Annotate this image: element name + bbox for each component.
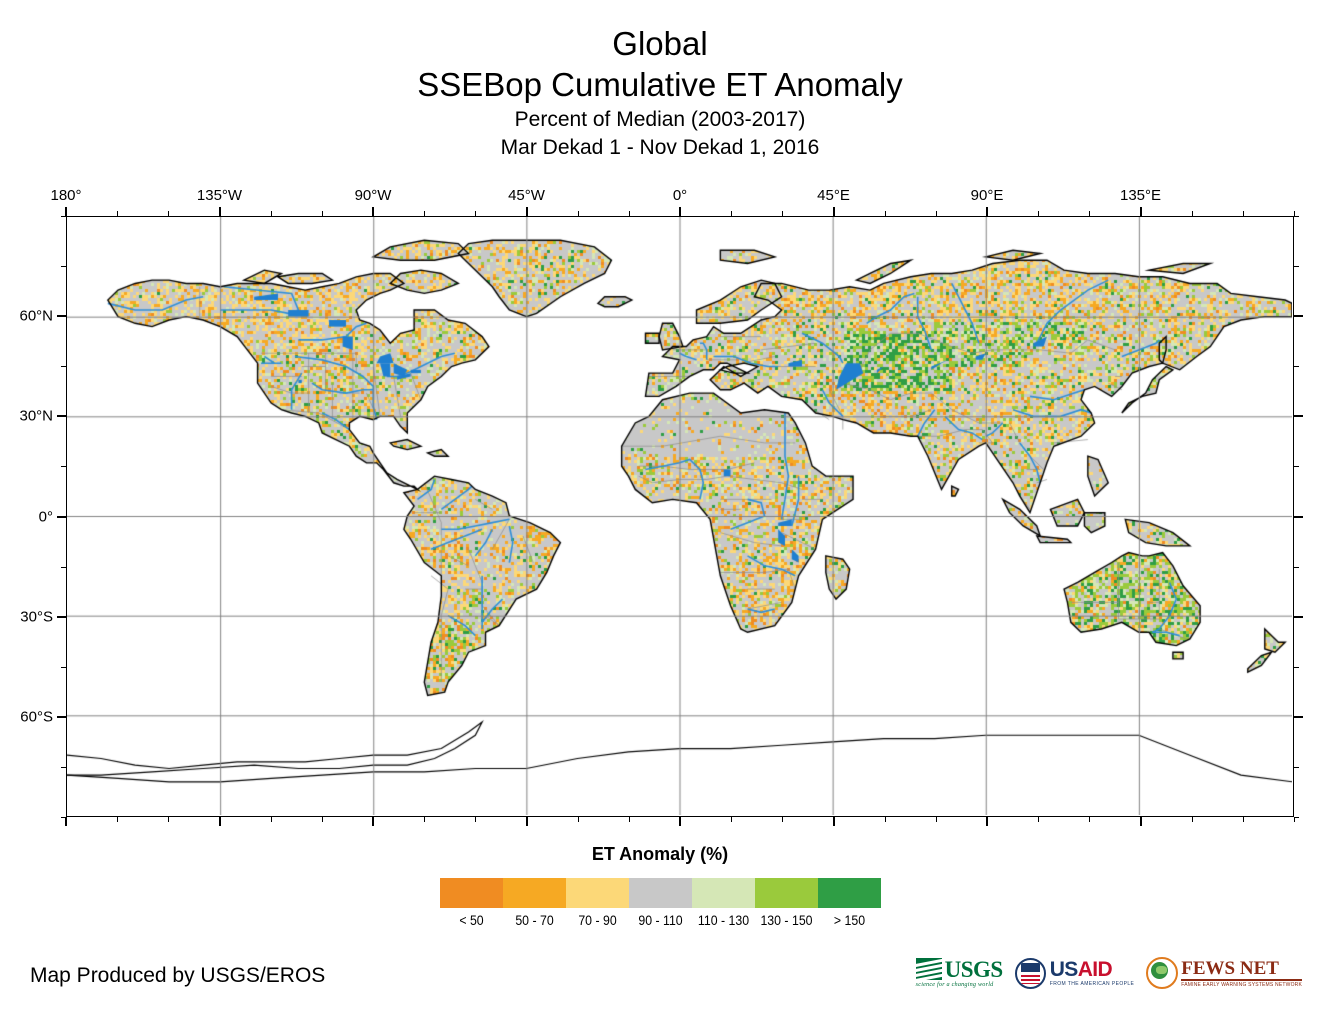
world-anomaly-raster[interactable] bbox=[67, 217, 1292, 815]
tick-x-minor bbox=[578, 211, 579, 216]
usgs-logo: USGS science for a changing world bbox=[916, 958, 1003, 988]
usaid-wordmark: USAID bbox=[1050, 959, 1135, 980]
usgs-wave-icon bbox=[916, 958, 942, 980]
page-subtitle-period: Percent of Median (2003-2017) bbox=[0, 106, 1320, 134]
tick-x-minor bbox=[936, 211, 937, 216]
tick-x-major bbox=[833, 207, 835, 216]
tick-x-major bbox=[526, 207, 528, 216]
tick-x-major bbox=[986, 817, 988, 826]
legend-label-2: 70 - 90 bbox=[569, 911, 624, 929]
legend: ET Anomaly (%) < 5050 - 7070 - 9090 - 11… bbox=[0, 843, 1320, 930]
tick-y-major bbox=[1294, 716, 1303, 718]
agency-logos: USGS science for a changing world USAID … bbox=[916, 957, 1302, 989]
axis-label-lat: 30°S bbox=[0, 609, 53, 624]
legend-label-row: < 5050 - 7070 - 9090 - 110110 - 130130 -… bbox=[440, 911, 881, 929]
legend-swatch-row bbox=[440, 878, 881, 908]
legend-swatch-1 bbox=[503, 878, 566, 908]
tick-x-major bbox=[1140, 207, 1142, 216]
tick-x-minor bbox=[782, 817, 783, 822]
usgs-wordmark: USGS bbox=[945, 958, 1003, 981]
tick-y-major bbox=[1294, 415, 1303, 417]
tick-x-major bbox=[986, 207, 988, 216]
fews-net-tagline: FAMINE EARLY WARNING SYSTEMS NETWORK bbox=[1181, 983, 1302, 988]
legend-strip: < 5050 - 7070 - 9090 - 110110 - 130130 -… bbox=[440, 878, 881, 929]
tick-x-minor bbox=[475, 211, 476, 216]
tick-x-minor bbox=[424, 817, 425, 822]
tick-x-minor bbox=[578, 817, 579, 822]
tick-x-minor bbox=[1192, 817, 1193, 822]
map-frame[interactable] bbox=[66, 216, 1294, 817]
tick-y-minor bbox=[61, 817, 66, 818]
legend-swatch-6 bbox=[818, 878, 881, 908]
tick-x-minor bbox=[1089, 817, 1090, 822]
legend-label-0: < 50 bbox=[443, 911, 498, 929]
tick-y-major bbox=[1294, 516, 1303, 518]
tick-x-minor bbox=[168, 211, 169, 216]
tick-y-minor bbox=[1294, 667, 1299, 668]
globe-icon bbox=[1146, 957, 1178, 989]
tick-x-minor bbox=[782, 211, 783, 216]
tick-x-minor bbox=[271, 817, 272, 822]
tick-y-major bbox=[57, 315, 66, 317]
axis-label-lat: 60°N bbox=[0, 309, 53, 324]
tick-y-minor bbox=[61, 466, 66, 467]
tick-y-minor bbox=[1294, 366, 1299, 367]
legend-title: ET Anomaly (%) bbox=[0, 843, 1320, 865]
title-block: Global SSEBop Cumulative ET Anomaly Perc… bbox=[0, 24, 1320, 161]
map-credit: Map Produced by USGS/EROS bbox=[30, 963, 325, 989]
tick-y-minor bbox=[61, 216, 66, 217]
legend-label-6: > 150 bbox=[821, 911, 876, 929]
tick-x-minor bbox=[1192, 211, 1193, 216]
page-title-line2: SSEBop Cumulative ET Anomaly bbox=[0, 64, 1320, 106]
tick-y-major bbox=[57, 516, 66, 518]
tick-x-major bbox=[679, 207, 681, 216]
tick-x-minor bbox=[1038, 211, 1039, 216]
tick-x-major bbox=[833, 817, 835, 826]
tick-x-minor bbox=[1243, 817, 1244, 822]
tick-x-major bbox=[219, 207, 221, 216]
tick-x-minor bbox=[1243, 211, 1244, 216]
fews-net-logo: FEWS NET FAMINE EARLY WARNING SYSTEMS NE… bbox=[1146, 957, 1302, 989]
tick-x-minor bbox=[1038, 817, 1039, 822]
usaid-word-aid: AID bbox=[1078, 958, 1112, 981]
tick-y-major bbox=[57, 716, 66, 718]
tick-x-minor bbox=[117, 817, 118, 822]
tick-x-major bbox=[372, 817, 374, 826]
tick-y-major bbox=[57, 415, 66, 417]
axis-label-lat: 30°N bbox=[0, 409, 53, 424]
tick-y-minor bbox=[1294, 567, 1299, 568]
axis-label-lat: 0° bbox=[0, 509, 53, 524]
tick-x-minor bbox=[117, 211, 118, 216]
axis-label-lon: 135°W bbox=[197, 188, 242, 203]
tick-x-minor bbox=[322, 211, 323, 216]
tick-y-minor bbox=[1294, 266, 1299, 267]
tick-y-major bbox=[1294, 315, 1303, 317]
legend-label-4: 110 - 130 bbox=[695, 911, 750, 929]
tick-x-minor bbox=[936, 817, 937, 822]
usaid-seal-icon bbox=[1015, 958, 1046, 989]
tick-x-minor bbox=[731, 817, 732, 822]
legend-swatch-0 bbox=[440, 878, 503, 908]
tick-x-major bbox=[372, 207, 374, 216]
fews-net-wordmark: FEWS NET bbox=[1181, 959, 1302, 981]
legend-swatch-3 bbox=[629, 878, 692, 908]
axis-label-lon: 90°W bbox=[355, 188, 392, 203]
tick-y-minor bbox=[61, 667, 66, 668]
tick-x-minor bbox=[322, 817, 323, 822]
tick-x-minor bbox=[629, 817, 630, 822]
axis-label-lon: 0° bbox=[673, 188, 687, 203]
tick-x-minor bbox=[629, 211, 630, 216]
legend-label-5: 130 - 150 bbox=[758, 911, 813, 929]
tick-y-minor bbox=[61, 567, 66, 568]
tick-x-minor bbox=[1089, 211, 1090, 216]
axis-label-lon: 135°E bbox=[1120, 188, 1161, 203]
tick-y-minor bbox=[61, 767, 66, 768]
tick-x-major bbox=[526, 817, 528, 826]
axis-label-lon: 90°E bbox=[971, 188, 1004, 203]
axis-label-lon: 45°W bbox=[508, 188, 545, 203]
tick-x-minor bbox=[271, 211, 272, 216]
tick-x-major bbox=[65, 817, 67, 826]
tick-x-major bbox=[219, 817, 221, 826]
axis-label-lat: 60°S bbox=[0, 709, 53, 724]
usaid-logo: USAID FROM THE AMERICAN PEOPLE bbox=[1015, 958, 1135, 989]
tick-x-minor bbox=[885, 817, 886, 822]
tick-x-minor bbox=[885, 211, 886, 216]
tick-x-minor bbox=[475, 817, 476, 822]
tick-x-major bbox=[65, 207, 67, 216]
legend-swatch-5 bbox=[755, 878, 818, 908]
tick-x-major bbox=[679, 817, 681, 826]
page-subtitle-daterange: Mar Dekad 1 - Nov Dekad 1, 2016 bbox=[0, 134, 1320, 161]
tick-x-minor bbox=[424, 211, 425, 216]
usaid-word-us: US bbox=[1050, 958, 1078, 981]
tick-y-minor bbox=[1294, 817, 1299, 818]
tick-x-minor bbox=[731, 211, 732, 216]
tick-y-minor bbox=[61, 266, 66, 267]
tick-y-major bbox=[1294, 616, 1303, 618]
page-title-line1: Global bbox=[0, 24, 1320, 64]
axis-label-lon: 45°E bbox=[817, 188, 850, 203]
usaid-tagline: FROM THE AMERICAN PEOPLE bbox=[1050, 982, 1135, 987]
legend-label-1: 50 - 70 bbox=[506, 911, 561, 929]
tick-y-minor bbox=[1294, 216, 1299, 217]
tick-y-major bbox=[57, 616, 66, 618]
usgs-tagline: science for a changing world bbox=[916, 982, 994, 988]
legend-swatch-4 bbox=[692, 878, 755, 908]
tick-y-minor bbox=[61, 366, 66, 367]
tick-y-minor bbox=[1294, 466, 1299, 467]
axis-label-lon: 180° bbox=[50, 188, 81, 203]
tick-x-major bbox=[1140, 817, 1142, 826]
legend-label-3: 90 - 110 bbox=[632, 911, 687, 929]
tick-y-minor bbox=[1294, 767, 1299, 768]
tick-x-minor bbox=[168, 817, 169, 822]
legend-swatch-2 bbox=[566, 878, 629, 908]
